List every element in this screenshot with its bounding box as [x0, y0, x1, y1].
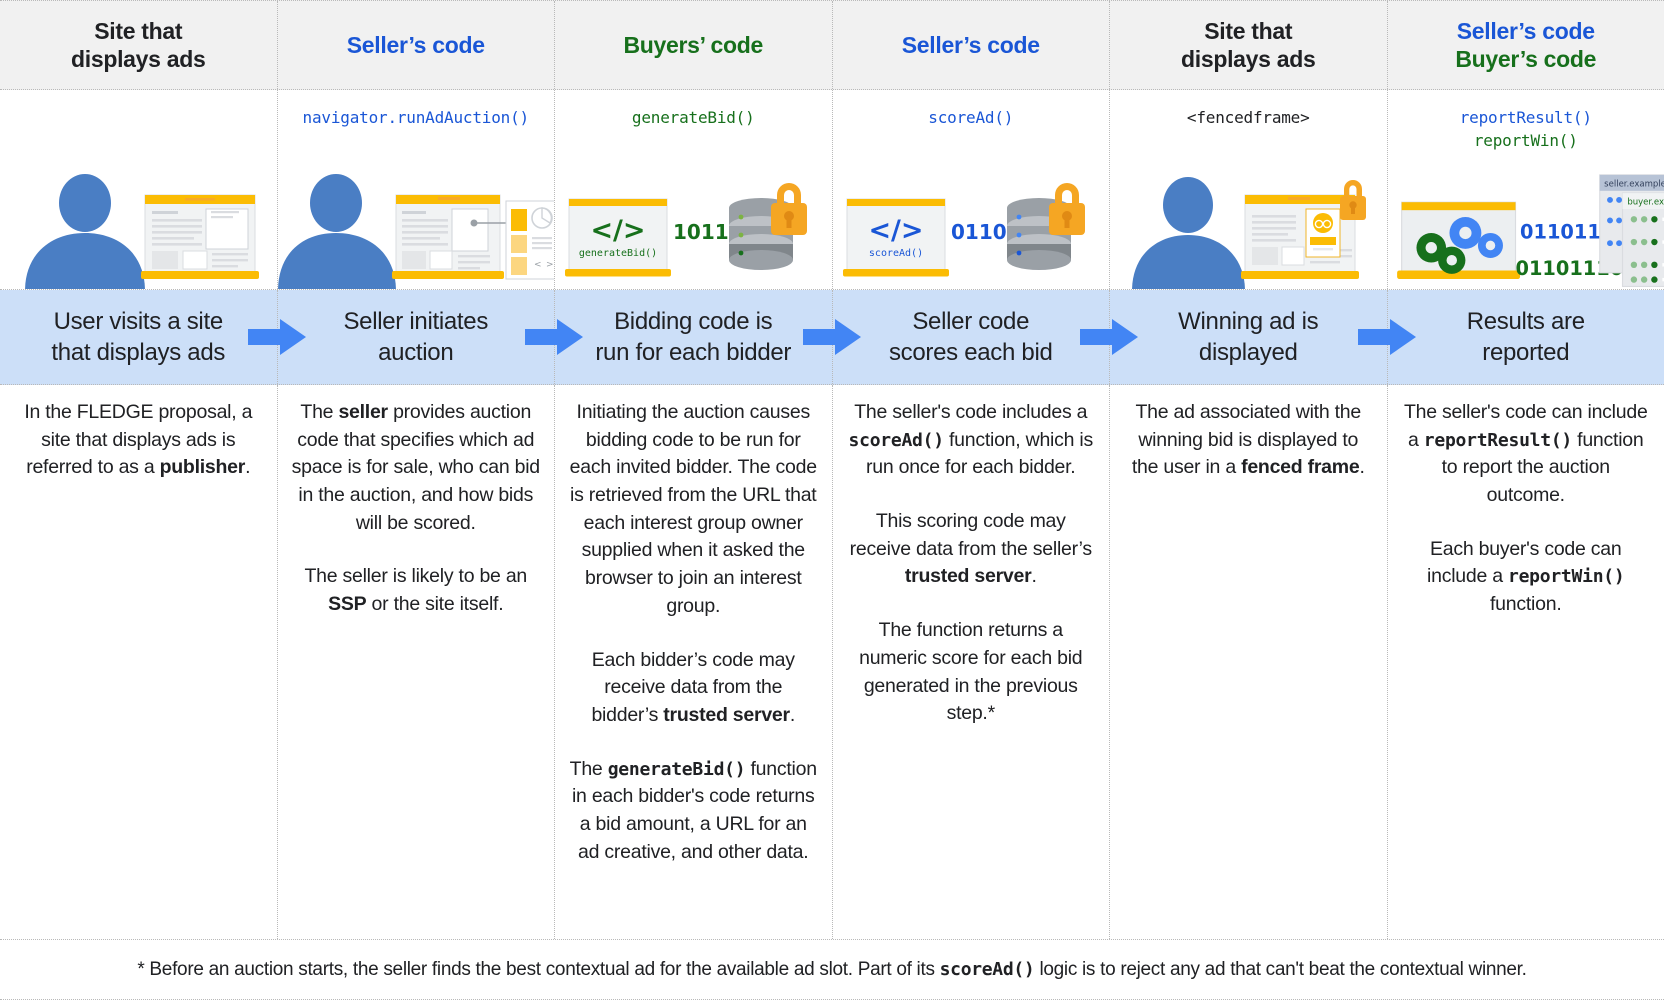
- header-cell-2: Seller’s code: [278, 1, 556, 89]
- svg-text:</>: </>: [868, 215, 923, 246]
- description-text: In the FLEDGE proposal, a site that disp…: [14, 399, 263, 482]
- api-label-fencedframe: <fencedframe>: [1110, 106, 1387, 129]
- header-line: displays ads: [1181, 45, 1315, 73]
- paragraph: The seller's code includes a scoreAd() f…: [847, 399, 1096, 482]
- score-bid-illustration: </> scoreAd() 0110111: [833, 161, 1110, 289]
- illustration-cell-1: [0, 90, 278, 289]
- step-cell-2: Seller initiates auction: [278, 290, 556, 384]
- step-label-line1: Bidding code is: [595, 306, 791, 337]
- step-cell-4: Seller code scores each bid: [833, 290, 1111, 384]
- illustration-cell-3: generateBid() </> generateBid() 1011110: [555, 90, 833, 289]
- header-row: Site that displays ads Seller’s code Buy…: [0, 0, 1664, 90]
- server-card-label: seller.example: [1604, 179, 1664, 189]
- seller-initiates-auction-illustration: < >: [278, 161, 555, 289]
- description-text: The ad associated with the winning bid i…: [1124, 399, 1373, 482]
- ad-creative: [1306, 209, 1340, 257]
- laptop-code-label: scoreAd(): [868, 248, 922, 259]
- step-label-line2: run for each bidder: [595, 337, 791, 368]
- flow-arrow-icon: [1078, 317, 1140, 357]
- header-line: Buyer’s code: [1455, 45, 1596, 73]
- description-text: The seller provides auction code that sp…: [292, 399, 541, 619]
- flow-arrow-icon: [523, 317, 585, 357]
- step-label-line1: User visits a site: [51, 306, 225, 337]
- footnote-row: * Before an auction starts, the seller f…: [0, 940, 1664, 1000]
- lock-icon: [1049, 183, 1085, 235]
- flow-arrow-icon: [801, 317, 863, 357]
- paragraph: Each buyer's code can include a reportWi…: [1402, 536, 1651, 619]
- api-label-scoread: scoreAd(): [833, 106, 1110, 129]
- step-cell-6: Results are reported: [1388, 290, 1664, 384]
- illustration-cell-2: navigator.runAdAuction(): [278, 90, 556, 289]
- laptop-code-icon: </> scoreAd(): [843, 199, 949, 277]
- step-label-line2: displayed: [1178, 337, 1318, 368]
- header-line: Seller’s code: [902, 31, 1040, 59]
- person-icon: [1132, 177, 1245, 289]
- step-label-line1: Winning ad is: [1178, 306, 1318, 337]
- bidding-code-illustration: </> generateBid() 1011110: [555, 161, 832, 289]
- header-cell-4: Seller’s code: [833, 1, 1111, 89]
- illustration-cell-6: reportResult() reportWin(): [1388, 90, 1664, 289]
- description-cell-6: The seller's code can include a reportRe…: [1388, 385, 1664, 939]
- winning-ad-displayed-illustration: [1110, 161, 1387, 289]
- paragraph: In the FLEDGE proposal, a site that disp…: [14, 399, 263, 482]
- description-cell-1: In the FLEDGE proposal, a site that disp…: [0, 385, 278, 939]
- paragraph: The seller's code can include a reportRe…: [1402, 399, 1651, 510]
- paragraph: The ad associated with the winning bid i…: [1124, 399, 1373, 482]
- paragraph: The seller provides auction code that sp…: [292, 399, 541, 537]
- svg-text:</>: </>: [590, 215, 645, 246]
- svg-text:>: >: [546, 260, 554, 270]
- svg-text:<: <: [534, 260, 542, 270]
- header-cell-5: Site that displays ads: [1110, 1, 1388, 89]
- results-reported-illustration: 0110111 01101110 seller.example: [1388, 143, 1664, 289]
- description-cell-2: The seller provides auction code that sp…: [278, 385, 556, 939]
- paragraph: Each bidder’s code may receive data from…: [569, 647, 818, 730]
- server-card-label: buyer.example: [1627, 197, 1664, 207]
- description-cell-4: The seller's code includes a scoreAd() f…: [833, 385, 1111, 939]
- footnote-after: logic is to reject any ad that can't bea…: [1034, 959, 1526, 980]
- footnote-code: scoreAd(): [940, 959, 1035, 980]
- api-label-runadauction: navigator.runAdAuction(): [278, 106, 555, 129]
- flow-arrow-icon: [246, 317, 308, 357]
- description-cell-5: The ad associated with the winning bid i…: [1110, 385, 1388, 939]
- description-text: Initiating the auction causes bidding co…: [569, 399, 818, 866]
- flow-arrow-icon: [1356, 317, 1418, 357]
- step-band: User visits a site that displays ads Sel…: [0, 290, 1664, 385]
- api-label-reportresult: reportResult(): [1388, 106, 1664, 129]
- header-line: Seller’s code: [347, 31, 485, 59]
- paragraph: The function returns a numeric score for…: [847, 617, 1096, 728]
- server-card-buyer: buyer.example: [1622, 193, 1664, 286]
- illustration-cell-5: <fencedframe>: [1110, 90, 1388, 289]
- header-line: displays ads: [71, 45, 205, 73]
- person-icon: [278, 174, 396, 289]
- header-line: Site that: [1204, 17, 1292, 45]
- paragraph: The generateBid() function in each bidde…: [569, 756, 818, 867]
- lock-icon: [1340, 180, 1366, 220]
- description-row: In the FLEDGE proposal, a site that disp…: [0, 385, 1664, 940]
- paragraph: The seller is likely to be an SSP or the…: [292, 563, 541, 618]
- ad-inventory-panel: < >: [506, 201, 555, 279]
- laptop-gears-icon: [1397, 202, 1520, 279]
- paragraph: This scoring code may receive data from …: [847, 508, 1096, 591]
- footnote-text: * Before an auction starts, the seller f…: [137, 959, 1526, 981]
- header-line: Site that: [94, 17, 182, 45]
- header-cell-1: Site that displays ads: [0, 1, 278, 89]
- illustration-cell-4: scoreAd() </> scoreAd() 0110111: [833, 90, 1111, 289]
- lock-icon: [771, 183, 807, 235]
- api-label-generatebid: generateBid(): [555, 106, 832, 129]
- laptop-icon: [392, 195, 504, 279]
- step-label-line1: Results are: [1467, 306, 1585, 337]
- step-label-line2: scores each bid: [889, 337, 1053, 368]
- description-cell-3: Initiating the auction causes bidding co…: [555, 385, 833, 939]
- step-cell-5: Winning ad is displayed: [1110, 290, 1388, 384]
- step-label-line2: that displays ads: [51, 337, 225, 368]
- header-line: Seller’s code: [1457, 17, 1595, 45]
- step-label-line1: Seller code: [889, 306, 1053, 337]
- person-icon: [25, 174, 145, 289]
- laptop-code-icon: </> generateBid(): [565, 199, 671, 277]
- header-cell-6: Seller’s code Buyer’s code: [1388, 1, 1664, 89]
- user-at-laptop-illustration: [0, 161, 277, 289]
- step-label-line1: Seller initiates: [343, 306, 488, 337]
- step-label-line2: reported: [1467, 337, 1585, 368]
- fledge-auction-flow-diagram: Site that displays ads Seller’s code Buy…: [0, 0, 1664, 1000]
- step-cell-3: Bidding code is run for each bidder: [555, 290, 833, 384]
- paragraph: Initiating the auction causes bidding co…: [569, 399, 818, 621]
- step-label-line2: auction: [343, 337, 488, 368]
- footnote-before: * Before an auction starts, the seller f…: [137, 959, 939, 980]
- laptop-icon: [141, 195, 259, 279]
- description-text: The seller's code can include a reportRe…: [1402, 399, 1651, 619]
- illustration-row: navigator.runAdAuction(): [0, 90, 1664, 290]
- description-text: The seller's code includes a scoreAd() f…: [847, 399, 1096, 728]
- header-line: Buyers’ code: [623, 31, 763, 59]
- header-cell-3: Buyers’ code: [555, 1, 833, 89]
- laptop-code-label: generateBid(): [579, 248, 657, 259]
- step-cell-1: User visits a site that displays ads: [0, 290, 278, 384]
